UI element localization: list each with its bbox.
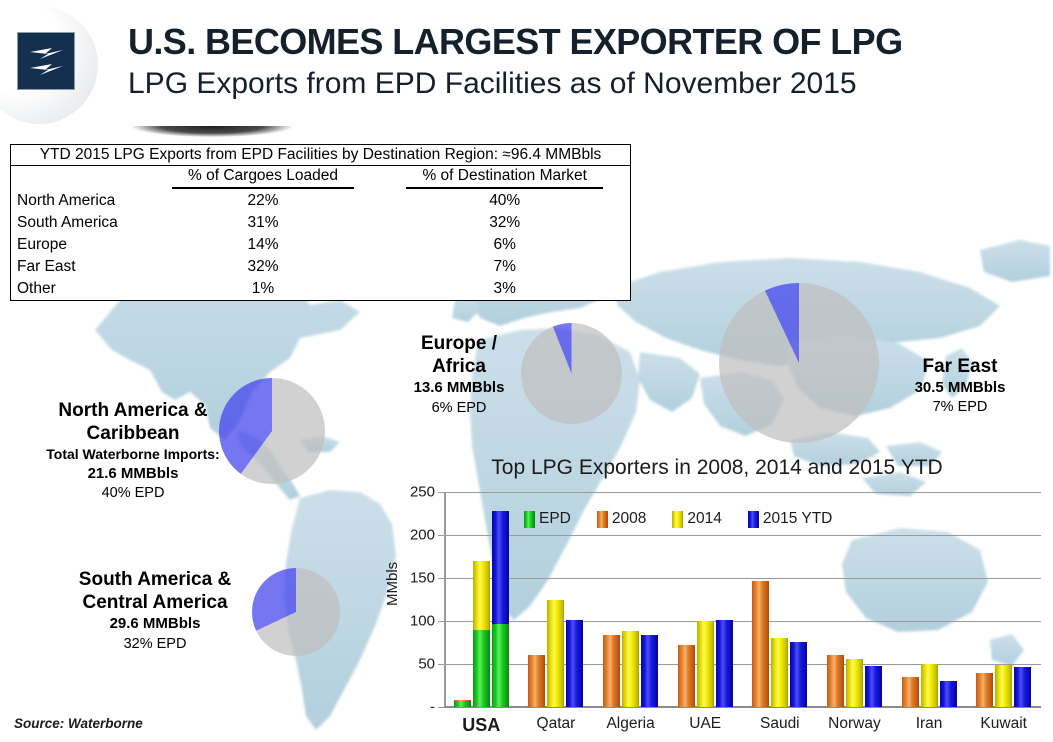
region-volume: 21.6 MMBbls [38,464,228,484]
page-subtitle: LPG Exports from EPD Facilities as of No… [128,66,1028,102]
y-tick-label: 250 [410,484,435,501]
table-row: Far East 32% 7% [11,256,631,278]
bar-algeria-2008 [603,635,620,707]
pie-north-america [219,378,325,484]
region-volume: 30.5 MMBbls [885,378,1035,398]
x-tick-label-qatar: Qatar [537,715,576,733]
table-title-row: YTD 2015 LPG Exports from EPD Facilities… [11,145,631,166]
bar-usa-epd-2008 [454,701,471,707]
y-tick-label: 50 [418,656,435,673]
x-tick-label-iran: Iran [916,715,943,733]
row-region: Europe [11,234,147,256]
y-tick-label: 100 [410,613,435,630]
region-name-line1: South America & [62,568,248,591]
y-tick-label: - [430,699,435,716]
region-label-north-america: North America & Caribbean Total Waterbor… [38,399,228,503]
region-label-europe-africa: Europe / Africa 13.6 MMBbls 6% EPD [398,332,520,418]
legend-item-epd: EPD [524,510,571,528]
table-row: Europe 14% 6% [11,234,631,256]
bar-kuwait-2015-ytd [1014,667,1031,707]
bar-iran-2014 [921,664,938,707]
bar-qatar-2008 [528,655,545,707]
region-epd-pct: 7% EPD [885,398,1035,418]
destination-region-table: YTD 2015 LPG Exports from EPD Facilities… [10,144,631,301]
table-row: North America 22% 40% [11,190,631,212]
legend-swatch-icon [748,511,759,528]
row-region: South America [11,212,147,234]
title-block: U.S. BECOMES LARGEST EXPORTER OF LPG LPG… [128,22,1028,102]
row-destination: 32% [379,212,630,234]
chart-title: Top LPG Exporters in 2008, 2014 and 2015… [386,456,1048,480]
pie-far-east [719,283,879,443]
pie-slice-group [719,283,879,443]
region-volume: 13.6 MMBbls [398,378,520,398]
row-destination: 40% [379,190,630,212]
table-row: Other 1% 3% [11,278,631,301]
x-tick-label-algeria: Algeria [606,715,654,733]
row-destination: 7% [379,256,630,278]
row-region: Other [11,278,147,301]
region-volume: 29.6 MMBbls [62,614,248,634]
legend-swatch-icon [597,511,608,528]
table-header-row: % of Cargoes Loaded % of Destination Mar… [11,166,631,191]
y-tick-label: 200 [410,527,435,544]
chart-y-axis-label: MMbls [384,562,401,606]
exporters-bar-chart: Top LPG Exporters in 2008, 2014 and 2015… [386,456,1048,742]
bar-saudi-2015-ytd [790,642,807,707]
row-cargoes: 1% [147,278,380,301]
source-note: Source: Waterborne [14,716,143,731]
bar-saudi-2014 [771,638,788,707]
region-epd-pct: 32% EPD [62,635,248,655]
bar-uae-2014 [697,621,714,707]
bar-iran-2015-ytd [940,681,957,707]
row-region: Far East [11,256,147,278]
title-underline-accent [132,126,292,137]
region-epd-pct: 6% EPD [398,399,520,419]
region-name-line1: Europe / [398,332,520,355]
region-name-line2: Africa [398,355,520,378]
bar-norway-2014 [846,659,863,707]
y-tick-mark [438,707,444,708]
bar-uae-2015-ytd [716,620,733,707]
region-name-line2: Central America [62,591,248,614]
x-tick-label-norway: Norway [828,715,881,733]
legend-label: EPD [539,510,571,528]
pie-south-america [252,568,340,656]
bar-group-usa: USA [444,492,519,707]
x-tick-label-saudi: Saudi [760,715,800,733]
x-tick-label-usa: USA [462,715,500,736]
region-name-line1: North America & [38,399,228,422]
row-region: North America [11,190,147,212]
bar-norway-2008 [827,655,844,707]
legend-swatch-icon [524,511,535,528]
legend-label: 2008 [612,510,646,528]
table-title: YTD 2015 LPG Exports from EPD Facilities… [11,145,631,166]
table-header-cargoes: % of Cargoes Loaded [147,166,380,191]
chart-legend: EPD200820142015 YTD [524,510,832,528]
legend-label: 2015 YTD [763,510,833,528]
bar-qatar-2014 [547,600,564,708]
legend-item-2015-ytd: 2015 YTD [748,510,833,528]
x-tick-label-kuwait: Kuwait [980,715,1027,733]
pie-slice-group [252,568,340,656]
row-destination: 3% [379,278,630,301]
table-header-region [11,166,147,191]
bar-usa-epd-2015-ytd [492,624,509,707]
pie-slice-group [219,378,325,484]
legend-swatch-icon [672,511,683,528]
table-header-destination: % of Destination Market [379,166,630,191]
region-label-far-east: Far East 30.5 MMBbls 7% EPD [885,355,1035,418]
y-tick-label: 150 [410,570,435,587]
pie-europe-africa [521,323,622,424]
pie-slice-group [521,323,622,424]
bar-norway-2015-ytd [865,666,882,707]
row-destination: 6% [379,234,630,256]
row-cargoes: 31% [147,212,380,234]
bar-saudi-2008 [752,581,769,707]
bar-group-kuwait: Kuwait [966,492,1041,707]
bar-algeria-2015-ytd [641,635,658,707]
region-name-line2: Caribbean [38,422,228,445]
region-subtitle: Total Waterborne Imports: [38,445,228,463]
table-row: South America 31% 32% [11,212,631,234]
legend-item-2014: 2014 [672,510,721,528]
slide-header: U.S. BECOMES LARGEST EXPORTER OF LPG LPG… [0,0,1053,132]
bar-kuwait-2008 [976,673,993,707]
x-tick-label-uae: UAE [689,715,721,733]
page-title: U.S. BECOMES LARGEST EXPORTER OF LPG [128,22,1028,62]
legend-item-2008: 2008 [597,510,646,528]
region-epd-pct: 40% EPD [38,484,228,504]
bar-group-iran: Iran [892,492,967,707]
row-cargoes: 32% [147,256,380,278]
company-logo-icon [17,32,75,90]
bar-algeria-2014 [622,631,639,707]
row-cargoes: 14% [147,234,380,256]
bar-iran-2008 [902,677,919,707]
bar-usa-epd-2014 [473,630,490,707]
region-label-south-america: South America & Central America 29.6 MMB… [62,568,248,654]
row-cargoes: 22% [147,190,380,212]
region-name-line1: Far East [885,355,1035,378]
bar-kuwait-2014 [995,665,1012,707]
bar-qatar-2015-ytd [566,620,583,707]
bar-uae-2008 [678,645,695,707]
legend-label: 2014 [687,510,721,528]
